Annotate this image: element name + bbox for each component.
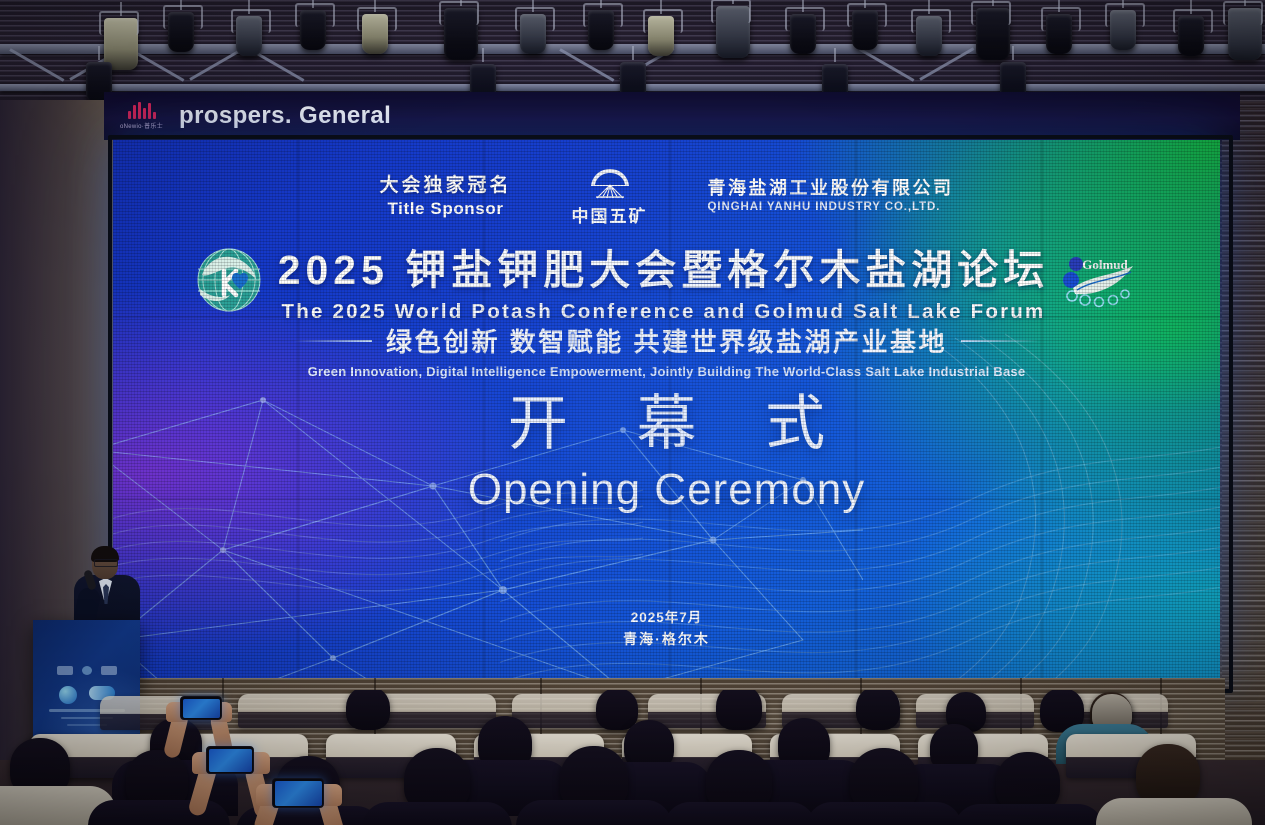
podium-logo-mark	[101, 666, 117, 675]
headline-en: Opening Ceremony	[113, 465, 1220, 515]
stage-light	[236, 16, 262, 56]
audience-head	[346, 690, 390, 730]
seat	[378, 694, 496, 728]
conference-title-stack: 2025 钾盐钾肥大会暨格尔木盐湖论坛 The 2025 World Potas…	[278, 236, 1050, 324]
audience-shoulders	[954, 804, 1104, 825]
seat	[238, 694, 358, 728]
yanhu-name-cn: 青海盐湖工业股份有限公司	[708, 178, 954, 200]
slogan-rule-right	[961, 340, 1039, 342]
stage-light	[852, 10, 878, 50]
audience-head	[996, 752, 1060, 812]
minmetals-logo-icon	[587, 166, 633, 200]
screen-header-band: oNewio·普乐士 prospers. General	[104, 92, 1240, 140]
stage-light	[916, 16, 942, 56]
brand-wordmark: prospers. General	[179, 102, 391, 130]
headline-cn: 开 幕 式	[113, 392, 1220, 457]
audience-head	[1136, 744, 1200, 806]
stage-light	[648, 16, 674, 56]
golmud-logo-text: Golmud	[1083, 257, 1129, 272]
audience-shoulders	[88, 800, 230, 825]
audience-shoulders	[1096, 798, 1252, 825]
ceiling-area	[0, 0, 1265, 100]
stage-light	[1228, 8, 1262, 60]
bar-chart-glyph	[128, 102, 156, 119]
audience-shoulders	[806, 802, 962, 825]
audience-head	[596, 690, 638, 730]
podium-sponsor-logos	[57, 666, 117, 675]
speaker-glasses-icon	[94, 559, 118, 567]
slogan-line: 绿色创新 数智赋能 共建世界级盐湖产业基地	[294, 322, 1039, 359]
ceremony-headline: 开 幕 式 Opening Ceremony	[113, 392, 1220, 515]
stage-light	[1046, 14, 1072, 54]
event-place: 青海·格尔木	[113, 629, 1220, 651]
event-footer-note: 2025年7月 青海·格尔木	[113, 608, 1220, 651]
sponsor-row: 大会独家冠名 Title Sponsor 中国五矿	[113, 166, 1220, 227]
yanhu-name-en: QINGHAI YANHU INDUSTRY CO.,LTD.	[708, 201, 941, 215]
stage-light	[168, 12, 194, 52]
stage-light	[362, 14, 388, 54]
podium-logo-mark	[82, 666, 92, 675]
golmud-city-logo-icon: Golmud	[1063, 252, 1139, 308]
title-sponsor-cn: 大会独家冠名	[379, 175, 511, 196]
stage-light	[444, 8, 478, 60]
audience-shoulders	[664, 802, 816, 825]
yanhu-company-block: 青海盐湖工业股份有限公司 QINGHAI YANHU INDUSTRY CO.,…	[708, 178, 954, 215]
screen-content: 大会独家冠名 Title Sponsor 中国五矿	[113, 140, 1220, 680]
stage-light	[300, 10, 326, 50]
slogan-cn: 绿色创新 数智赋能 共建世界级盐湖产业基地	[386, 322, 947, 359]
audience-head	[716, 690, 762, 730]
stage-light	[588, 10, 614, 50]
potash-globe-logo-icon	[194, 245, 264, 315]
phone-filming	[272, 778, 324, 808]
stage-light	[976, 8, 1010, 60]
audience-shoulders	[516, 800, 672, 825]
stage-light	[1178, 16, 1204, 56]
conference-title-cn: 2025 钾盐钾肥大会暨格尔木盐湖论坛	[278, 236, 1050, 296]
title-sponsor-label: 大会独家冠名 Title Sponsor	[379, 175, 511, 218]
stage-light	[1110, 10, 1136, 50]
conference-slogan: 绿色创新 数智赋能 共建世界级盐湖产业基地 Green Innovation, …	[113, 322, 1220, 379]
phone-filming	[180, 696, 222, 720]
audience-shoulders	[362, 802, 512, 825]
slogan-en: Green Innovation, Digital Intelligence E…	[308, 364, 1026, 379]
podium-logo-mark	[57, 666, 73, 675]
conference-title-row: 2025 钾盐钾肥大会暨格尔木盐湖论坛 The 2025 World Potas…	[113, 236, 1220, 324]
audience-area	[0, 690, 1265, 825]
minmetals-name: 中国五矿	[572, 202, 648, 227]
brand-subtext: oNewio·普乐士	[120, 121, 163, 130]
prospers-logo-icon: oNewio·普乐士	[120, 102, 163, 130]
slogan-rule-left	[294, 340, 372, 342]
led-stage-screen: 大会独家冠名 Title Sponsor 中国五矿	[113, 140, 1220, 680]
conference-photo-scene: oNewio·普乐士 prospers. General	[0, 0, 1265, 825]
title-sponsor-en: Title Sponsor	[387, 199, 503, 218]
audience-head	[856, 690, 900, 730]
conference-title-en: The 2025 World Potash Conference and Gol…	[282, 300, 1046, 324]
stage-light	[790, 14, 816, 54]
phone-filming	[206, 746, 254, 774]
stage-light	[520, 14, 546, 54]
stage-light	[716, 6, 750, 58]
event-date: 2025年7月	[113, 608, 1220, 629]
minmetals-sponsor: 中国五矿	[572, 166, 648, 227]
